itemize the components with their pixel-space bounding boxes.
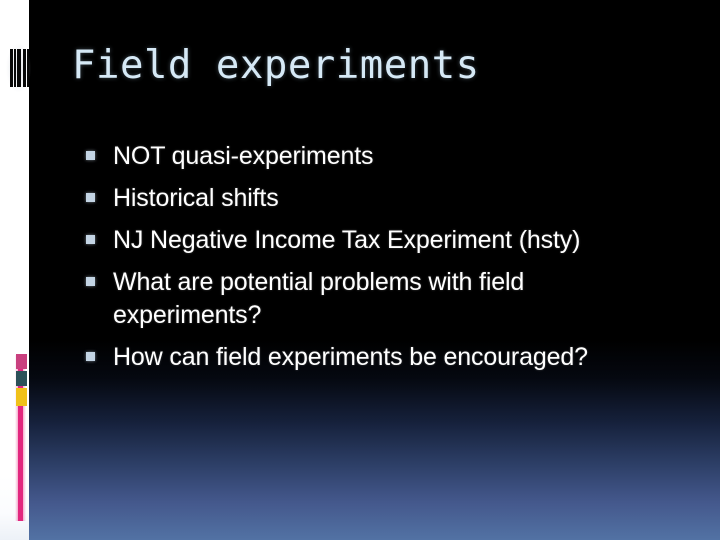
decoration-bar [27, 49, 29, 87]
square-bullet-icon [86, 352, 95, 361]
square-bullet-icon [86, 151, 95, 160]
list-item-label: NOT quasi-experiments [113, 140, 686, 173]
square-bullet-icon [86, 277, 95, 286]
list-item: Historical shifts [86, 182, 686, 215]
presentation-slide: Field experiments NOT quasi-experiments … [0, 0, 720, 540]
list-item: How can field experiments be encouraged? [86, 341, 686, 374]
list-item-label: NJ Negative Income Tax Experiment (hsty) [113, 224, 686, 257]
list-item: NOT quasi-experiments [86, 140, 686, 173]
square-bullet-icon [86, 235, 95, 244]
decoration-bar [17, 49, 21, 87]
list-item-label: Historical shifts [113, 182, 686, 215]
left-accent-strip [0, 0, 29, 540]
vertical-bars-decoration [10, 49, 29, 87]
decoration-bar [14, 49, 16, 87]
list-item-label: How can field experiments be encouraged? [113, 341, 686, 374]
color-chip-pink [16, 354, 27, 369]
decoration-bar [23, 49, 26, 87]
decoration-bar [10, 49, 13, 87]
color-chip-yellow [16, 388, 27, 406]
slide-title: Field experiments [72, 40, 672, 92]
list-item: NJ Negative Income Tax Experiment (hsty) [86, 224, 686, 257]
bullet-list: NOT quasi-experiments Historical shifts … [86, 140, 686, 383]
list-item: What are potential problems with field e… [86, 266, 686, 332]
color-chip-teal [16, 371, 27, 386]
list-item-label: What are potential problems with field e… [113, 266, 593, 332]
square-bullet-icon [86, 193, 95, 202]
